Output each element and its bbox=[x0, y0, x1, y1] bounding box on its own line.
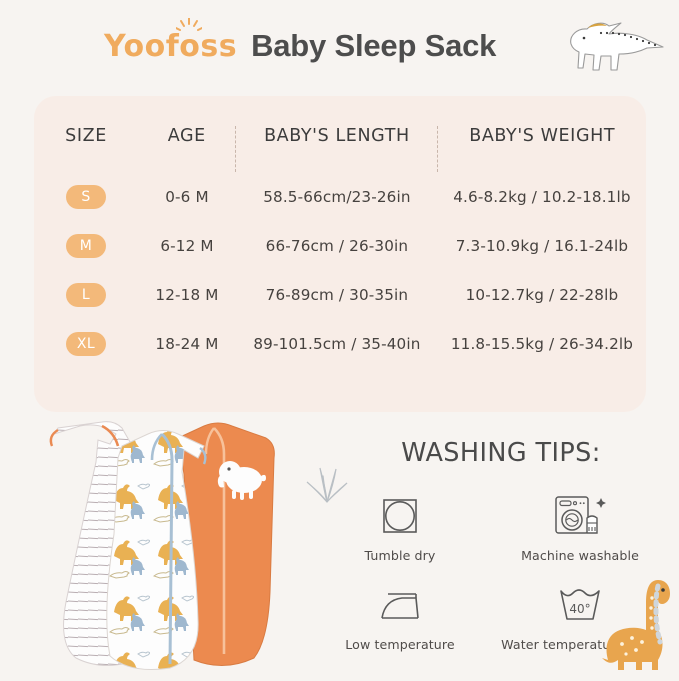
table-header: SIZE AGE BABY'S LENGTH BABY'S WEIGHT bbox=[34, 126, 646, 172]
cell-length: 76-89cm / 30-35in bbox=[236, 270, 438, 319]
table-row: XL 18-24 M 89-101.5cm / 35-40in 11.8-15.… bbox=[34, 319, 646, 368]
column-header-age: AGE bbox=[138, 126, 236, 172]
brontosaurus-icon bbox=[598, 572, 674, 676]
cell-length: 89-101.5cm / 35-40in bbox=[236, 319, 438, 368]
cell-size: XL bbox=[34, 319, 138, 368]
cell-size: S bbox=[34, 172, 138, 221]
washing-tips-section: WASHING TIPS: Tumble dry bbox=[310, 420, 670, 678]
cell-age: 12-18 M bbox=[138, 270, 236, 319]
cell-age: 0-6 M bbox=[138, 172, 236, 221]
cell-age: 18-24 M bbox=[138, 319, 236, 368]
size-badge: M bbox=[66, 234, 106, 258]
brand-name: Yoofoss bbox=[104, 29, 237, 64]
table-row: S 0-6 M 58.5-66cm/23-26in 4.6-8.2kg / 10… bbox=[34, 172, 646, 221]
tip-low-temperature: Low temperature bbox=[310, 579, 490, 652]
washing-tips-title: WASHING TIPS: bbox=[310, 420, 670, 468]
cell-size: L bbox=[34, 270, 138, 319]
table-row: L 12-18 M 76-89cm / 30-35in 10-12.7kg / … bbox=[34, 270, 646, 319]
tip-label: Tumble dry bbox=[310, 548, 490, 563]
table-row: M 6-12 M 66-76cm / 26-30in 7.3-10.9kg / … bbox=[34, 221, 646, 270]
cell-age: 6-12 M bbox=[138, 221, 236, 270]
cell-length: 66-76cm / 26-30in bbox=[236, 221, 438, 270]
cell-weight: 4.6-8.2kg / 10.2-18.1lb bbox=[438, 172, 646, 221]
page-title: Baby Sleep Sack bbox=[251, 28, 496, 64]
cell-weight: 11.8-15.5kg / 26-34.2lb bbox=[438, 319, 646, 368]
column-header-size: SIZE bbox=[34, 126, 138, 172]
column-header-weight: BABY'S WEIGHT bbox=[438, 126, 646, 172]
tip-label: Machine washable bbox=[490, 548, 670, 563]
washing-tips-row-1: Tumble dry bbox=[310, 490, 670, 563]
column-header-length: BABY'S LENGTH bbox=[236, 126, 438, 172]
size-chart-panel: SIZE AGE BABY'S LENGTH BABY'S WEIGHT S 0… bbox=[34, 96, 646, 412]
page-header: Yoofoss Baby Sleep Sack bbox=[0, 0, 679, 92]
cell-weight: 7.3-10.9kg / 16.1-24lb bbox=[438, 221, 646, 270]
svg-text:40°: 40° bbox=[569, 602, 590, 616]
parasaurolophus-line-icon bbox=[563, 14, 667, 78]
tip-label: Low temperature bbox=[310, 637, 490, 652]
product-photo bbox=[18, 414, 308, 676]
tip-machine-washable: Machine washable bbox=[490, 490, 670, 563]
cell-weight: 10-12.7kg / 22-28lb bbox=[438, 270, 646, 319]
cell-length: 58.5-66cm/23-26in bbox=[236, 172, 438, 221]
size-badge: L bbox=[66, 283, 106, 307]
brand-logo: Yoofoss bbox=[104, 29, 237, 64]
sleep-sacks-illustration bbox=[18, 414, 308, 676]
low-temperature-iron-icon bbox=[310, 579, 490, 631]
sun-rays-icon bbox=[176, 18, 202, 32]
size-badge: S bbox=[66, 185, 106, 209]
size-chart-table: SIZE AGE BABY'S LENGTH BABY'S WEIGHT S 0… bbox=[34, 126, 646, 368]
table-body: S 0-6 M 58.5-66cm/23-26in 4.6-8.2kg / 10… bbox=[34, 172, 646, 368]
table-header-row: SIZE AGE BABY'S LENGTH BABY'S WEIGHT bbox=[34, 126, 646, 172]
grass-sprig-icon bbox=[304, 464, 350, 504]
machine-washable-icon bbox=[490, 490, 670, 542]
cell-size: M bbox=[34, 221, 138, 270]
size-badge: XL bbox=[66, 332, 106, 356]
